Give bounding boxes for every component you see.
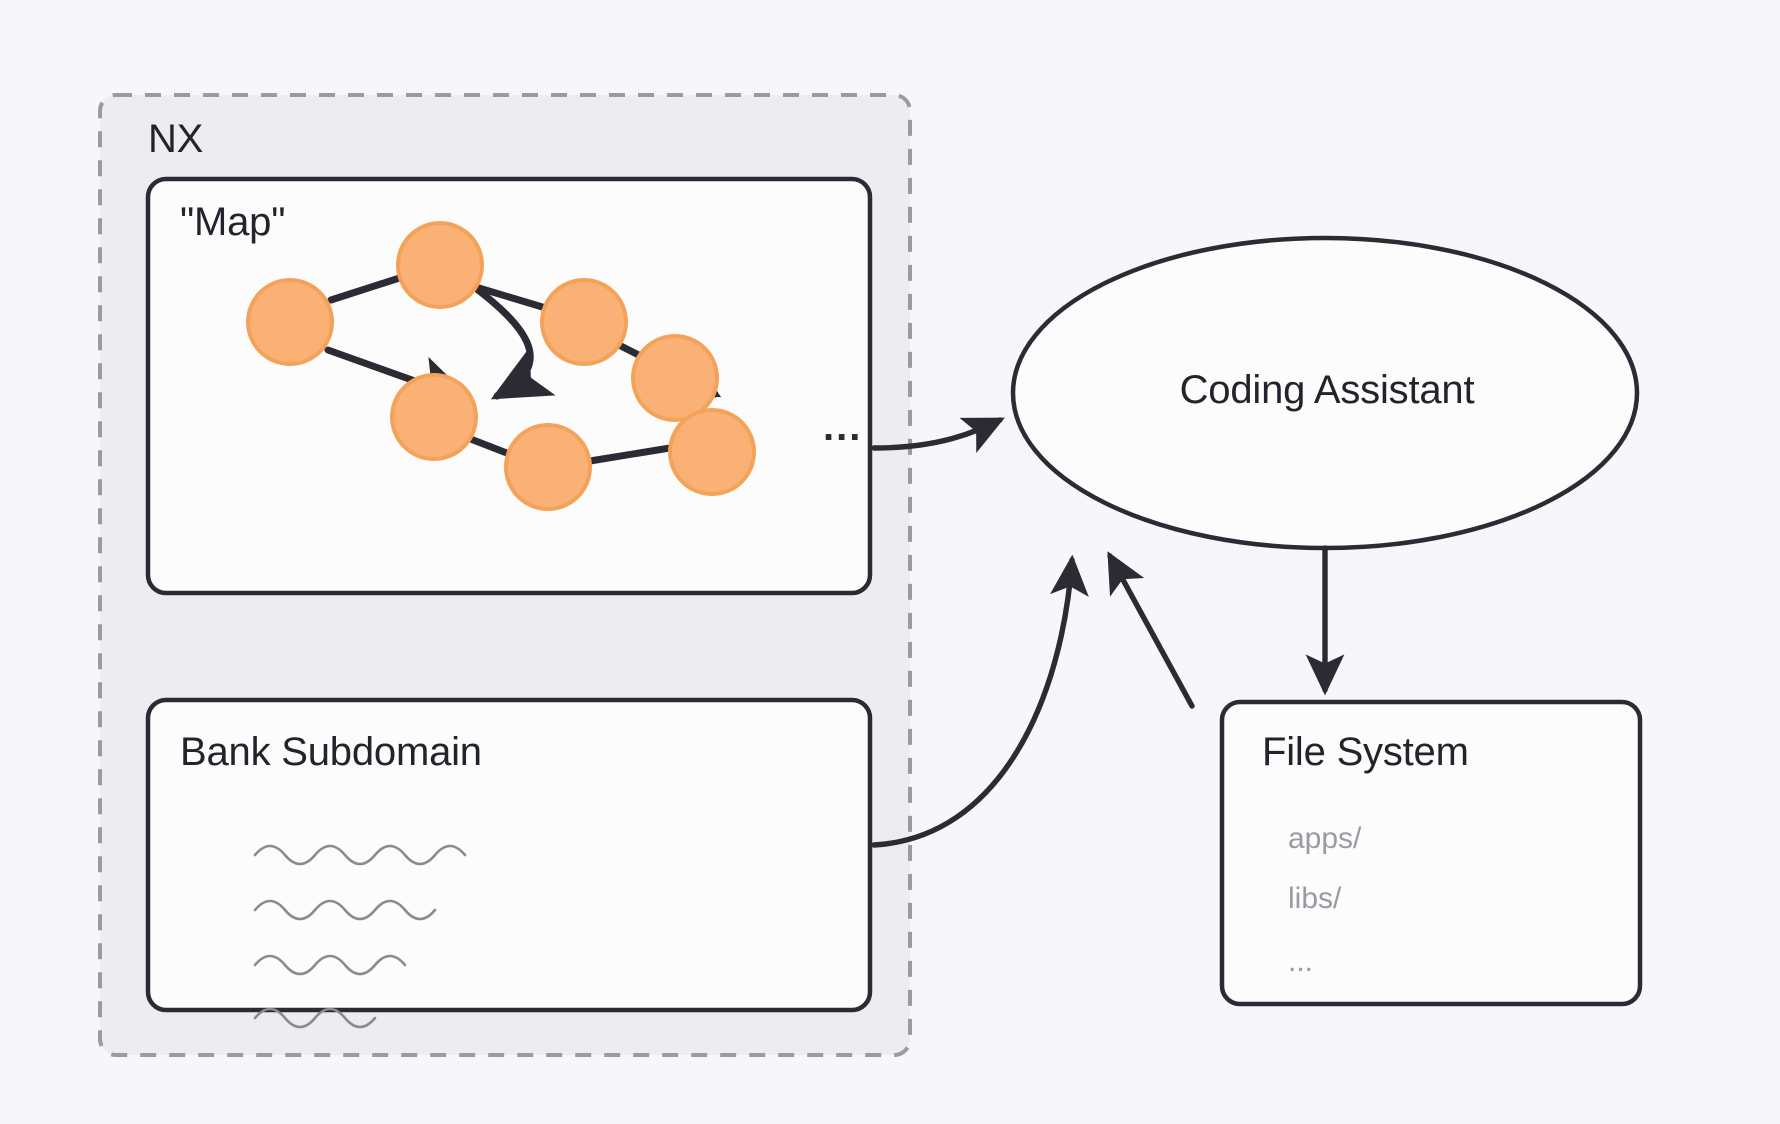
map-overflow-ellipsis: ... — [823, 405, 862, 450]
bank-subdomain-label: Bank Subdomain — [180, 730, 482, 775]
file-system-entry: ... — [1288, 945, 1313, 979]
nx-container-label: NX — [148, 117, 203, 162]
file-system-entry: apps/ — [1288, 822, 1361, 856]
file-system-entry: libs/ — [1288, 882, 1341, 916]
connectors-layer — [0, 0, 1780, 1124]
file-system-label: File System — [1262, 730, 1602, 775]
connector-filesystem-to-assistant — [1110, 556, 1192, 706]
map-card-label: "Map" — [180, 200, 285, 245]
connector-map-to-assistant — [874, 420, 1000, 448]
diagram-canvas: NX "Map" ... Bank Subdomain Coding Assis… — [0, 0, 1780, 1124]
coding-assistant-label: Coding Assistant — [1157, 368, 1497, 413]
connector-bank-to-assistant — [874, 560, 1072, 845]
